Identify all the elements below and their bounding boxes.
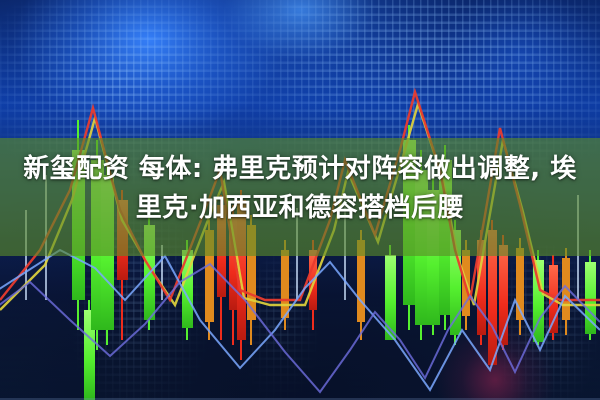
headline-line-2: 里克·加西亚和德容搭档后腰 <box>12 189 588 228</box>
headline-text: 新玺配资 每体: 弗里克预计对阵容做出调整, 埃 里克·加西亚和德容搭档后腰 <box>0 150 600 228</box>
headline-line-1: 新玺配资 每体: 弗里克预计对阵容做出调整, 埃 <box>12 150 588 189</box>
image-canvas: 新玺配资 每体: 弗里克预计对阵容做出调整, 埃 里克·加西亚和德容搭档后腰 <box>0 0 600 400</box>
